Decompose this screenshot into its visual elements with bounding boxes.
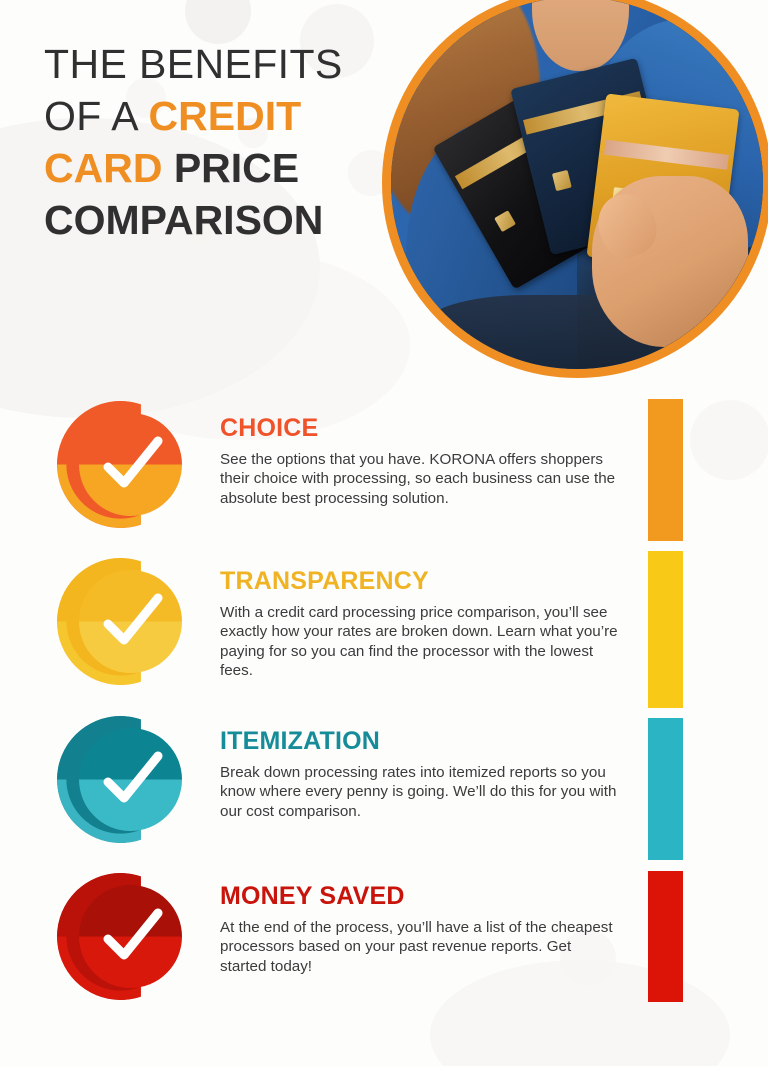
check-circle-icon-transparency xyxy=(57,558,184,685)
color-bar-segment-teal xyxy=(648,718,683,860)
color-bar-segment-red xyxy=(648,871,683,1002)
color-bar-segment-gold xyxy=(648,551,683,708)
check-circle-icon-choice xyxy=(57,401,184,528)
title-text-card: CARD xyxy=(44,145,174,191)
title-line-1: THE BENEFITS xyxy=(44,38,384,90)
infographic-poster: THE BENEFITS OF A CREDIT CARD PRICE COMP… xyxy=(0,0,768,1066)
checkmark-icon xyxy=(79,728,182,831)
page-title: THE BENEFITS OF A CREDIT CARD PRICE COMP… xyxy=(44,38,384,246)
benefit-heading: ITEMIZATION xyxy=(220,728,620,756)
title-line-2: OF A CREDIT xyxy=(44,90,384,142)
benefit-body: With a credit card processing price comp… xyxy=(220,603,620,681)
checkmark-icon xyxy=(79,570,182,673)
check-circle-icon-itemization xyxy=(57,716,184,843)
title-text-credit: CREDIT xyxy=(149,93,302,139)
title-line-4: COMPARISON xyxy=(44,194,384,246)
benefit-copy-choice: CHOICE See the options that you have. KO… xyxy=(220,415,620,508)
benefit-copy-transparency: TRANSPARENCY With a credit card processi… xyxy=(220,568,620,681)
color-bar-segment-orange xyxy=(648,399,683,541)
check-circle-icon-money-saved xyxy=(57,873,184,1000)
checkmark-icon xyxy=(79,885,182,988)
title-text-comparison: COMPARISON xyxy=(44,197,323,243)
benefit-copy-money-saved: MONEY SAVED At the end of the process, y… xyxy=(220,883,620,976)
checkmark-icon xyxy=(79,413,182,516)
title-text-the-benefits: THE BENEFITS xyxy=(44,41,343,87)
title-text-of-a: OF A xyxy=(44,93,149,139)
title-text-price: PRICE xyxy=(174,145,299,191)
benefit-body: At the end of the process, you’ll have a… xyxy=(220,918,620,977)
benefit-heading: TRANSPARENCY xyxy=(220,568,620,596)
benefit-heading: MONEY SAVED xyxy=(220,883,620,911)
benefit-heading: CHOICE xyxy=(220,415,620,443)
benefit-copy-itemization: ITEMIZATION Break down processing rates … xyxy=(220,728,620,821)
benefit-body: Break down processing rates into itemize… xyxy=(220,763,620,822)
benefit-body: See the options that you have. KORONA of… xyxy=(220,450,620,509)
title-line-3: CARD PRICE xyxy=(44,142,384,194)
